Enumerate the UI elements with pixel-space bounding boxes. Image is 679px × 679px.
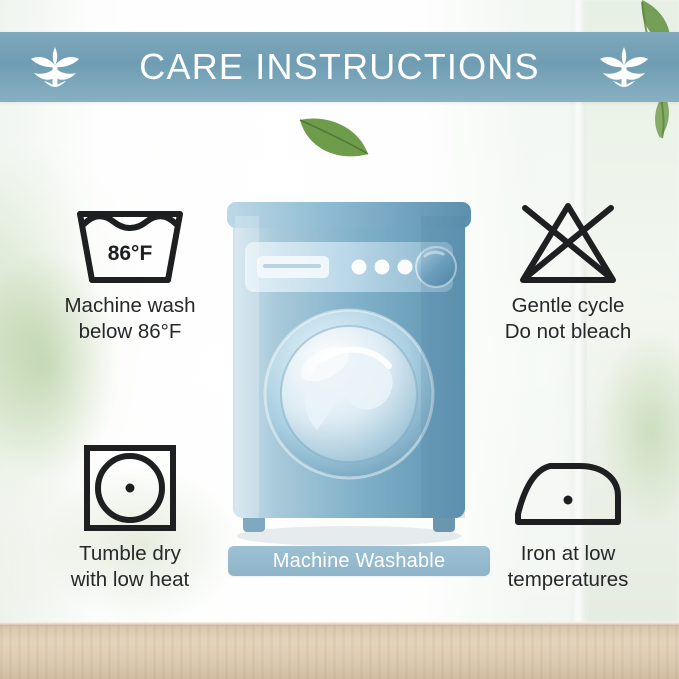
instruction-machine-wash: 86°F Machine wash below 86°F <box>16 190 244 345</box>
instruction-caption: Machine wash below 86°F <box>16 293 244 345</box>
instruction-caption: Gentle cycle Do not bleach <box>462 293 674 345</box>
do-not-bleach-triangle-icon <box>462 190 674 286</box>
fleur-de-lis-icon <box>597 45 651 89</box>
washing-machine-illustration <box>225 198 473 550</box>
page-title: CARE INSTRUCTIONS <box>139 46 539 88</box>
table-edge-highlight <box>0 622 679 626</box>
header-banner: CARE INSTRUCTIONS <box>0 32 679 102</box>
tumble-dry-low-heat-icon <box>16 438 244 534</box>
wash-tub-icon: 86°F <box>16 190 244 286</box>
instruction-gentle-cycle: Gentle cycle Do not bleach <box>462 190 674 345</box>
iron-low-temperature-icon <box>462 438 674 534</box>
wash-temperature-label: 86°F <box>108 242 153 265</box>
instruction-caption: Iron at low temperatures <box>462 541 674 593</box>
care-instructions-graphic: CARE INSTRUCTIONS <box>0 0 679 679</box>
instruction-iron-low: Iron at low temperatures <box>462 438 674 593</box>
instruction-caption: Tumble dry with low heat <box>16 541 244 593</box>
status-badge: Machine Washable <box>228 546 490 576</box>
fleur-de-lis-icon <box>28 45 82 89</box>
wooden-table-surface <box>0 622 679 679</box>
instruction-tumble-dry: Tumble dry with low heat <box>16 438 244 593</box>
status-badge-label: Machine Washable <box>273 550 446 573</box>
leaf-decoration-floating <box>296 112 372 164</box>
